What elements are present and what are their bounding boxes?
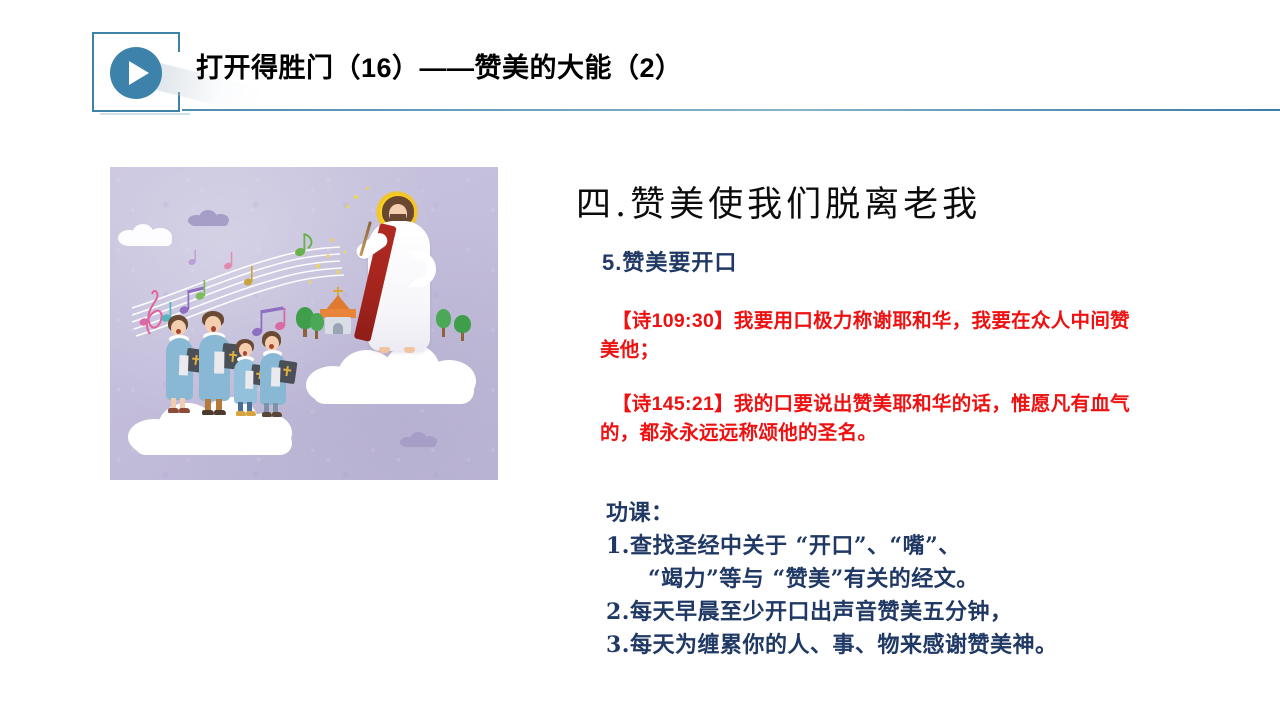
section-heading: 四.赞美使我们脱离老我 — [576, 176, 981, 227]
sub-section-heading: 5.赞美要开口 — [602, 245, 737, 277]
slide-content: 四.赞美使我们脱离老我 5.赞美要开口 【诗109:30】我要用口极力称谢耶和华… — [0, 0, 1280, 720]
homework-item-3-text: 每天为缠累你的人、事、物来感谢赞美神。 — [630, 632, 1058, 658]
homework-item-2: 2.每天早晨至少开口出声音赞美五分钟， — [606, 596, 1176, 629]
homework-item-3: 3.每天为缠累你的人、事、物来感谢赞美神。 — [606, 629, 1176, 662]
homework-item-1-number: 1. — [606, 530, 630, 563]
homework-section: 功课： 1.查找圣经中关于 “开口”、“嘴”、 “竭力”等与 “赞美”有关的经文… — [606, 497, 1176, 662]
homework-item-3-number: 3. — [606, 629, 630, 662]
homework-item-1: 1.查找圣经中关于 “开口”、“嘴”、 — [606, 530, 1176, 563]
scripture-verse-2: 【诗145:21】我的口要说出赞美耶和华的话，惟愿凡有血气的，都永永远远称颂他的… — [600, 390, 1130, 448]
homework-item-1-continued: “竭力”等与 “赞美”有关的经文。 — [606, 563, 1176, 596]
scripture-verse-1: 【诗109:30】我要用口极力称谢耶和华，我要在众人中间赞美他； — [600, 307, 1130, 365]
homework-item-2-number: 2. — [606, 596, 630, 629]
homework-item-1-text: 查找圣经中关于 “开口”、“嘴”、 — [630, 533, 961, 559]
homework-item-2-text: 每天早晨至少开口出声音赞美五分钟， — [630, 599, 1013, 625]
homework-title: 功课： — [606, 497, 1176, 530]
